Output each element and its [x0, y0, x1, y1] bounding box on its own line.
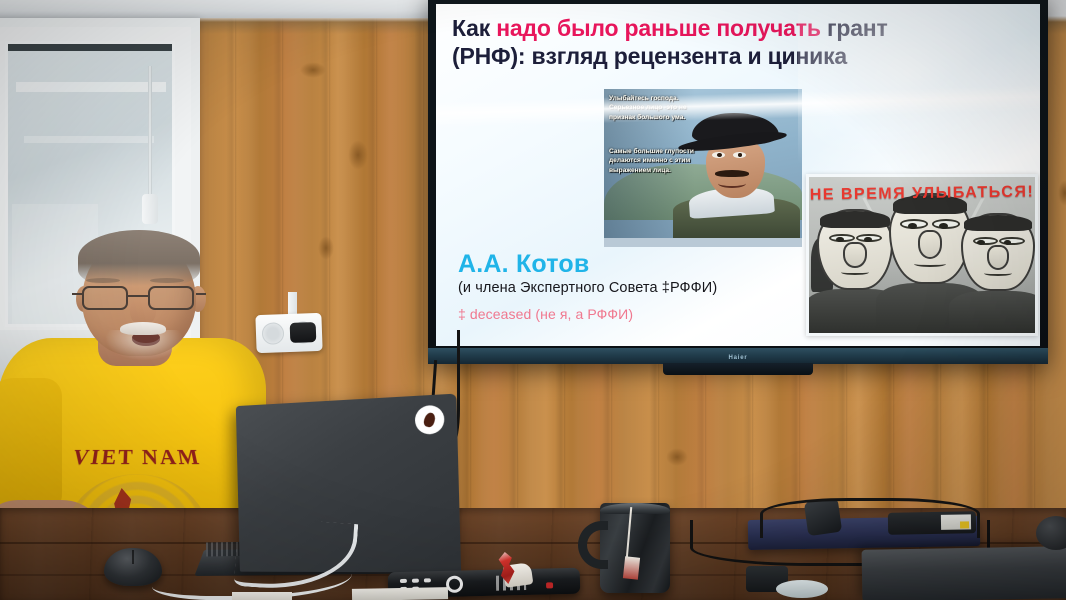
tea-bag-tag [623, 556, 640, 579]
presenter-mustache [120, 322, 166, 335]
meme-character-mustache [715, 170, 749, 177]
slide-title-seg2: грант [821, 15, 888, 41]
cartoon-body [949, 291, 1038, 333]
cartoon-mouth [914, 261, 945, 267]
cartoon-pupil [864, 237, 872, 242]
meme-caption-bottom: Самые большие глупости делаются именно с… [609, 147, 709, 175]
meme-photo-image: Улыбайтесь господа. Серьезное лицо -это … [604, 89, 802, 247]
presenter-eyebrow-right [150, 278, 184, 283]
mug-rim [600, 503, 670, 514]
meme-character-pupil-left [717, 153, 722, 157]
tv-screen: Как надо было раньше получать грант (РНФ… [436, 4, 1040, 346]
mouse-button-split [132, 550, 134, 564]
shirt-text: VIET NAM [46, 444, 228, 500]
meme-character-smile [718, 179, 746, 188]
tea-bag-string [626, 507, 632, 559]
eyeglasses [78, 286, 200, 312]
cartoon-mouth [984, 271, 1012, 276]
cartoon-mouth [841, 269, 870, 274]
slide-title-accent: надо было раньше получать [496, 15, 821, 41]
eyeglass-lens-left [82, 286, 128, 310]
cartoon-hair [964, 215, 1031, 231]
presenter-eyebrow-left [86, 278, 120, 283]
slide-title: Как надо было раньше получать грант (РНФ… [452, 14, 1024, 70]
cartoon-poster-image: НЕ ВРЕМЯ УЛЫБАТЬСЯ! [806, 174, 1038, 336]
remote-button [400, 579, 407, 583]
slide-title-seg1: Как [452, 15, 496, 41]
coffee-mug[interactable] [600, 503, 670, 593]
remote-button [412, 579, 419, 583]
cartoon-pupil [908, 223, 917, 229]
window-handle[interactable] [142, 194, 158, 224]
wood-knot [666, 448, 688, 466]
cartoon-skull [889, 193, 971, 284]
eyeglass-bridge [128, 295, 148, 297]
eyeglass-lens-right [148, 286, 194, 310]
cartoon-hair [820, 211, 889, 228]
remote-power-button [546, 582, 553, 588]
meme-watermark [753, 239, 799, 245]
cartoon-nose [987, 245, 1009, 270]
power-cable-loop [760, 498, 980, 538]
cartoon-pupil [939, 223, 948, 229]
meme-player-bar [604, 238, 802, 247]
cartoon-nose [918, 230, 943, 260]
ceiling-strip [0, 0, 440, 18]
slide-title-line2: (РНФ): взгляд рецензента и циника [452, 42, 1024, 70]
candy-wrapper [494, 552, 532, 586]
tv-bottom-bezel: Haier [428, 348, 1048, 364]
remote-dpad [446, 576, 463, 593]
wood-knot [1058, 180, 1066, 206]
eyeglass-temple-left [72, 293, 82, 295]
slide-speaker-name: А.А. Котов [458, 250, 589, 279]
window-reflection [16, 82, 166, 92]
shirt-text-label: VIET NAM [70, 445, 203, 470]
window-reflection [24, 136, 154, 143]
wood-knot [300, 62, 326, 78]
meme-character-pupil-right [738, 153, 743, 157]
wall-mounted-tv: Как надо было раньше получать грант (РНФ… [428, 0, 1048, 364]
paper-slip [232, 592, 292, 600]
meme-caption-top: Улыбайтесь господа. Серьезное лицо -это … [609, 94, 709, 122]
cartoon-nose [843, 242, 866, 268]
meme-character [687, 113, 802, 238]
eyeglass-temple-right [196, 293, 206, 295]
presentation-slide: Как надо было раньше получать грант (РНФ… [436, 4, 1040, 346]
paper-slip [352, 587, 448, 600]
closed-laptop-gray[interactable] [862, 546, 1066, 600]
cartoon-skull [817, 209, 893, 290]
cartoon-head-right [961, 213, 1035, 331]
wood-knot [348, 140, 368, 170]
laptop-lid-sticker [415, 405, 445, 435]
tv-brand-logo: Haier [728, 355, 747, 361]
slide-speaker-note: ‡ deceased (не я, а РФФИ) [458, 306, 633, 322]
window-top-seal [8, 44, 172, 51]
photo-scene: Как надо было раньше получать грант (РНФ… [0, 0, 1066, 600]
remote-button [424, 578, 431, 582]
cartoon-slogan-text: НЕ ВРЕМЯ УЛЫБАТЬСЯ! [809, 183, 1035, 204]
cartoon-skull [961, 213, 1035, 291]
slide-speaker-subtitle: (и члена Экспертного Совета ‡РФФИ) [458, 280, 717, 296]
tv-stand-foot [663, 363, 813, 375]
white-puck-device[interactable] [776, 580, 828, 598]
window-rod [148, 66, 152, 196]
